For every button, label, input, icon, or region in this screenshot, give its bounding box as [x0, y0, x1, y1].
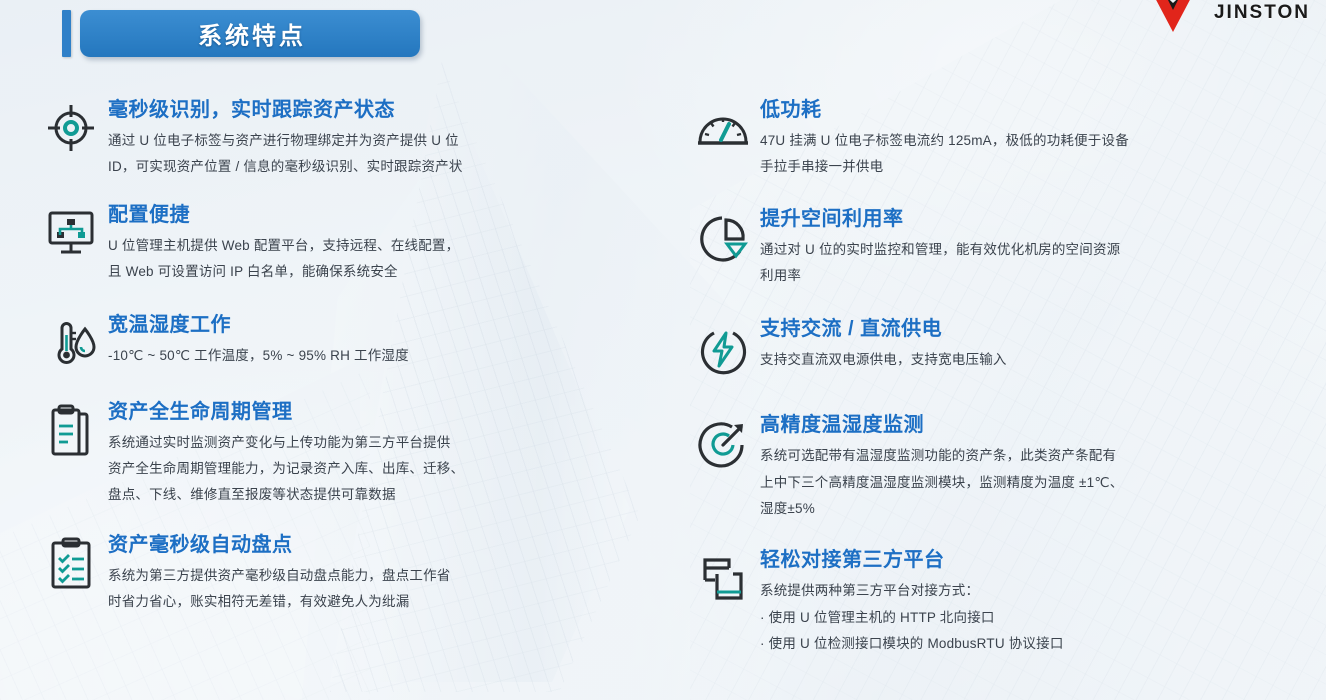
feature-title: 支持交流 / 直流供电: [760, 315, 1007, 344]
feature-title: 提升空间利用率: [760, 205, 1120, 234]
feature-title: 高精度温湿度监测: [760, 411, 1123, 440]
feature-description-line: 系统可选配带有温湿度监测功能的资产条，此类资产条配有: [760, 443, 1123, 469]
features-columns: 毫秒级识别，实时跟踪资产状态 通过 U 位电子标签与资产进行物理绑定并为资产提供…: [0, 96, 1326, 663]
title-pill: 系统特点: [80, 10, 420, 57]
gauge-meter-icon: [686, 96, 760, 152]
feature-description: 支持交直流双电源供电，支持宽电压输入: [760, 347, 1007, 373]
system-features-slide: 系统特点 JINSTON: [0, 0, 1326, 700]
feature-title: 轻松对接第三方平台: [760, 546, 1064, 575]
feature-description-line: 通过对 U 位的实时监控和管理，能有效优化机房的空间资源: [760, 237, 1120, 263]
features-column-right: 低功耗 47U 挂满 U 位电子标签电流约 125mA，极低的功耗便于设备 手拉…: [0, 96, 686, 663]
feature-body: 低功耗 47U 挂满 U 位电子标签电流约 125mA，极低的功耗便于设备 手拉…: [760, 96, 1129, 181]
brand-logo: JINSTON: [1141, 0, 1310, 38]
brand-name: JINSTON: [1214, 2, 1310, 24]
feature-description-line: · 使用 U 位检测接口模块的 ModbusRTU 协议接口: [760, 631, 1064, 657]
feature-description-line: 系统提供两种第三方平台对接方式：: [760, 578, 1064, 604]
feature-description-line: · 使用 U 位管理主机的 HTTP 北向接口: [760, 605, 1064, 631]
pie-chart-icon: [686, 205, 760, 265]
feature-body: 提升空间利用率 通过对 U 位的实时监控和管理，能有效优化机房的空间资源 利用率: [760, 205, 1120, 290]
lightning-power-icon: [686, 315, 760, 375]
feature-description-line: 上中下三个高精度温湿度监测模块，监测精度为温度 ±1℃、: [760, 470, 1123, 496]
feature-description-line: 利用率: [760, 263, 1120, 289]
feature-description: 通过对 U 位的实时监控和管理，能有效优化机房的空间资源 利用率: [760, 237, 1120, 290]
integration-squares-icon: [686, 546, 760, 606]
feature-description: 系统可选配带有温湿度监测功能的资产条，此类资产条配有 上中下三个高精度温湿度监测…: [760, 443, 1123, 522]
feature-body: 轻松对接第三方平台 系统提供两种第三方平台对接方式： · 使用 U 位管理主机的…: [760, 546, 1064, 657]
feature-body: 高精度温湿度监测 系统可选配带有温湿度监测功能的资产条，此类资产条配有 上中下三…: [760, 411, 1123, 522]
page-title: 系统特点: [194, 16, 306, 51]
chevron-logo-icon: [1141, 0, 1205, 38]
feature-title: 低功耗: [760, 96, 1129, 125]
feature-description: 47U 挂满 U 位电子标签电流约 125mA，极低的功耗便于设备 手拉手串接一…: [760, 128, 1129, 181]
feature-description-line: 湿度±5%: [760, 496, 1123, 522]
feature-description-line: 支持交直流双电源供电，支持宽电压输入: [760, 347, 1007, 373]
feature-description-line: 47U 挂满 U 位电子标签电流约 125mA，极低的功耗便于设备: [760, 128, 1129, 154]
feature-body: 支持交流 / 直流供电 支持交直流双电源供电，支持宽电压输入: [760, 315, 1007, 373]
title-accent-bar: [62, 10, 71, 57]
feature-description-line: 手拉手串接一并供电: [760, 154, 1129, 180]
section-title-banner: 系统特点: [62, 10, 420, 57]
target-arrow-icon: [686, 411, 760, 471]
feature-description: 系统提供两种第三方平台对接方式： · 使用 U 位管理主机的 HTTP 北向接口…: [760, 578, 1064, 657]
